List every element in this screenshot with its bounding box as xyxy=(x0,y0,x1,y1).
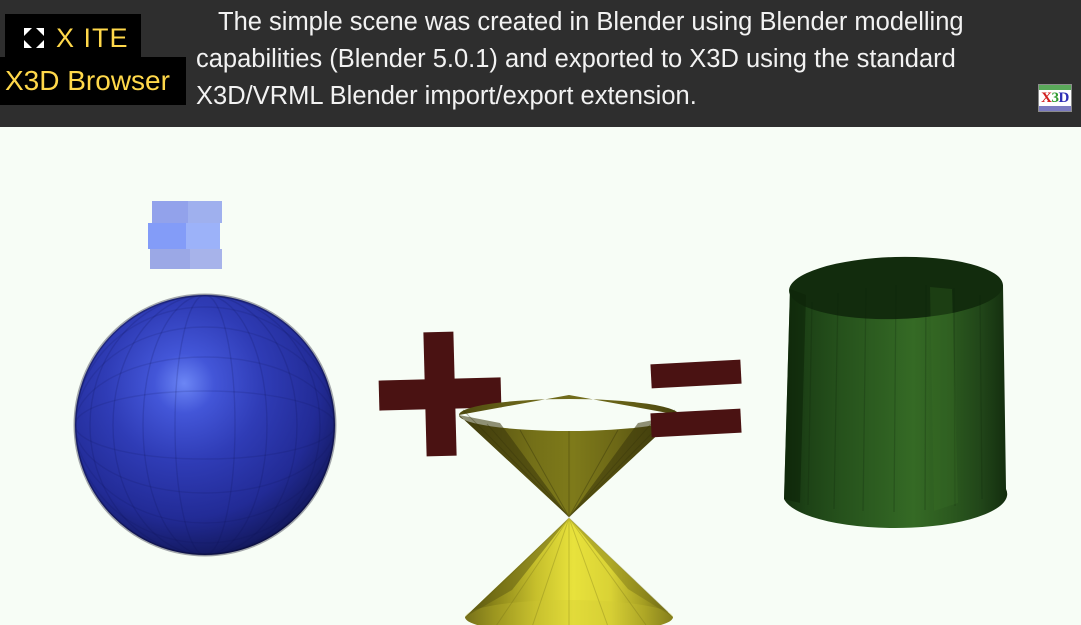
badge-letter-3: 3 xyxy=(1052,91,1059,106)
plus-operator-symbol xyxy=(379,332,502,457)
badge-bottom-bar xyxy=(1039,106,1071,111)
double-cone-object[interactable] xyxy=(459,395,679,625)
cylinder-object[interactable] xyxy=(784,254,1007,528)
badge-letter-x: X xyxy=(1041,91,1051,106)
scene-description-text: The simple scene was created in Blender … xyxy=(196,4,1062,115)
sphere-object[interactable] xyxy=(75,201,335,555)
expand-arrows-icon xyxy=(24,28,44,48)
brand-box-title[interactable]: X ITE xyxy=(5,14,141,62)
sphere-highlight xyxy=(148,201,222,269)
brand-subtitle-label: X3D Browser xyxy=(5,67,170,95)
x3d-scene-canvas[interactable] xyxy=(0,127,1081,625)
brand-title-label: X ITE xyxy=(56,25,129,52)
badge-letters: X3D xyxy=(1039,89,1071,107)
cone-lower xyxy=(465,518,673,625)
x3d-browser-window: The simple scene was created in Blender … xyxy=(0,0,1081,625)
x3d-logo-badge[interactable]: X3D xyxy=(1038,84,1072,112)
badge-letter-d: D xyxy=(1059,91,1069,106)
brand-box-subtitle[interactable]: X3D Browser xyxy=(0,57,186,105)
cone-upper xyxy=(459,395,679,517)
